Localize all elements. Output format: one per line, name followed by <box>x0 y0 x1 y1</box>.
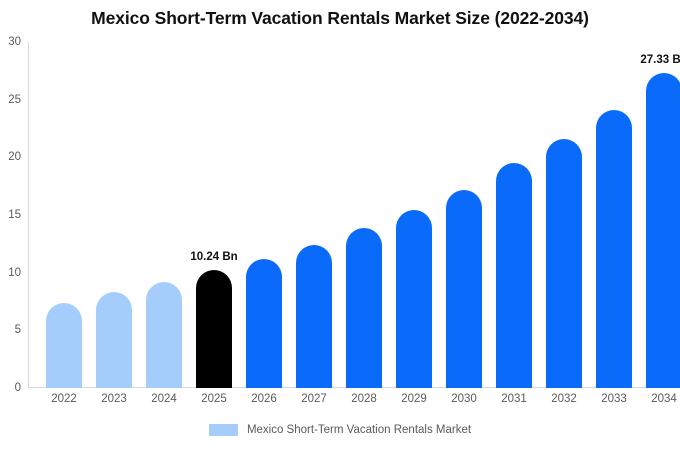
bar[interactable] <box>646 73 680 388</box>
x-axis-tick-label: 2025 <box>201 393 227 405</box>
bar-group[interactable]: 2031 <box>489 42 539 388</box>
bar-value-label: 27.33 Bn <box>640 54 680 66</box>
x-axis-tick-label: 2031 <box>501 393 527 405</box>
bar-group[interactable]: 2027 <box>289 42 339 388</box>
bar[interactable] <box>596 110 632 388</box>
chart-title: Mexico Short-Term Vacation Rentals Marke… <box>0 8 680 29</box>
bar[interactable] <box>246 259 282 388</box>
y-axis-tick-label: 0 <box>15 382 21 394</box>
bar-group[interactable]: 2033 <box>589 42 639 388</box>
bar[interactable] <box>46 303 82 388</box>
y-axis-tick-label: 25 <box>8 94 21 106</box>
x-axis-tick-label: 2033 <box>601 393 627 405</box>
bar-group[interactable]: 2029 <box>389 42 439 388</box>
bar-group[interactable]: 27.33 Bn2034 <box>639 42 680 388</box>
x-axis-tick-label: 2029 <box>401 393 427 405</box>
bar[interactable] <box>296 245 332 388</box>
x-axis-tick-label: 2030 <box>451 393 477 405</box>
bar-group[interactable]: 2032 <box>539 42 589 388</box>
bar[interactable] <box>396 210 432 388</box>
y-axis-tick-label: 5 <box>15 324 21 336</box>
bar-group[interactable]: 2026 <box>239 42 289 388</box>
x-axis-tick-label: 2028 <box>351 393 377 405</box>
plot-area: 20222023202410.24 Bn20252026202720282029… <box>28 42 673 388</box>
bar-group[interactable]: 2022 <box>39 42 89 388</box>
bar[interactable] <box>546 139 582 388</box>
legend-label: Mexico Short-Term Vacation Rentals Marke… <box>247 424 471 436</box>
bar[interactable] <box>346 228 382 388</box>
bar-group[interactable]: 10.24 Bn2025 <box>189 42 239 388</box>
bar-group[interactable]: 2030 <box>439 42 489 388</box>
x-axis-tick-label: 2026 <box>251 393 277 405</box>
y-axis-tick-label: 15 <box>8 209 21 221</box>
bar-group[interactable]: 2023 <box>89 42 139 388</box>
legend-swatch <box>209 424 238 436</box>
bar[interactable] <box>196 270 232 388</box>
x-axis-tick-label: 2023 <box>101 393 127 405</box>
bar[interactable] <box>96 292 132 388</box>
bar-value-label: 10.24 Bn <box>190 251 237 263</box>
bar-group[interactable]: 2024 <box>139 42 189 388</box>
bar-chart: Mexico Short-Term Vacation Rentals Marke… <box>0 0 680 450</box>
bar[interactable] <box>446 190 482 388</box>
y-axis-tick-label: 10 <box>8 267 21 279</box>
y-axis-tick-label: 20 <box>8 151 21 163</box>
chart-legend: Mexico Short-Term Vacation Rentals Marke… <box>0 424 680 436</box>
x-axis-tick-label: 2022 <box>51 393 77 405</box>
bar[interactable] <box>496 163 532 388</box>
x-axis-tick-label: 2034 <box>651 393 677 405</box>
y-axis-tick-label: 30 <box>8 36 21 48</box>
x-axis-tick-label: 2024 <box>151 393 177 405</box>
bar-series: 20222023202410.24 Bn20252026202720282029… <box>28 42 673 388</box>
bar[interactable] <box>146 282 182 388</box>
x-axis-tick-label: 2032 <box>551 393 577 405</box>
bar-group[interactable]: 2028 <box>339 42 389 388</box>
x-axis-tick-label: 2027 <box>301 393 327 405</box>
